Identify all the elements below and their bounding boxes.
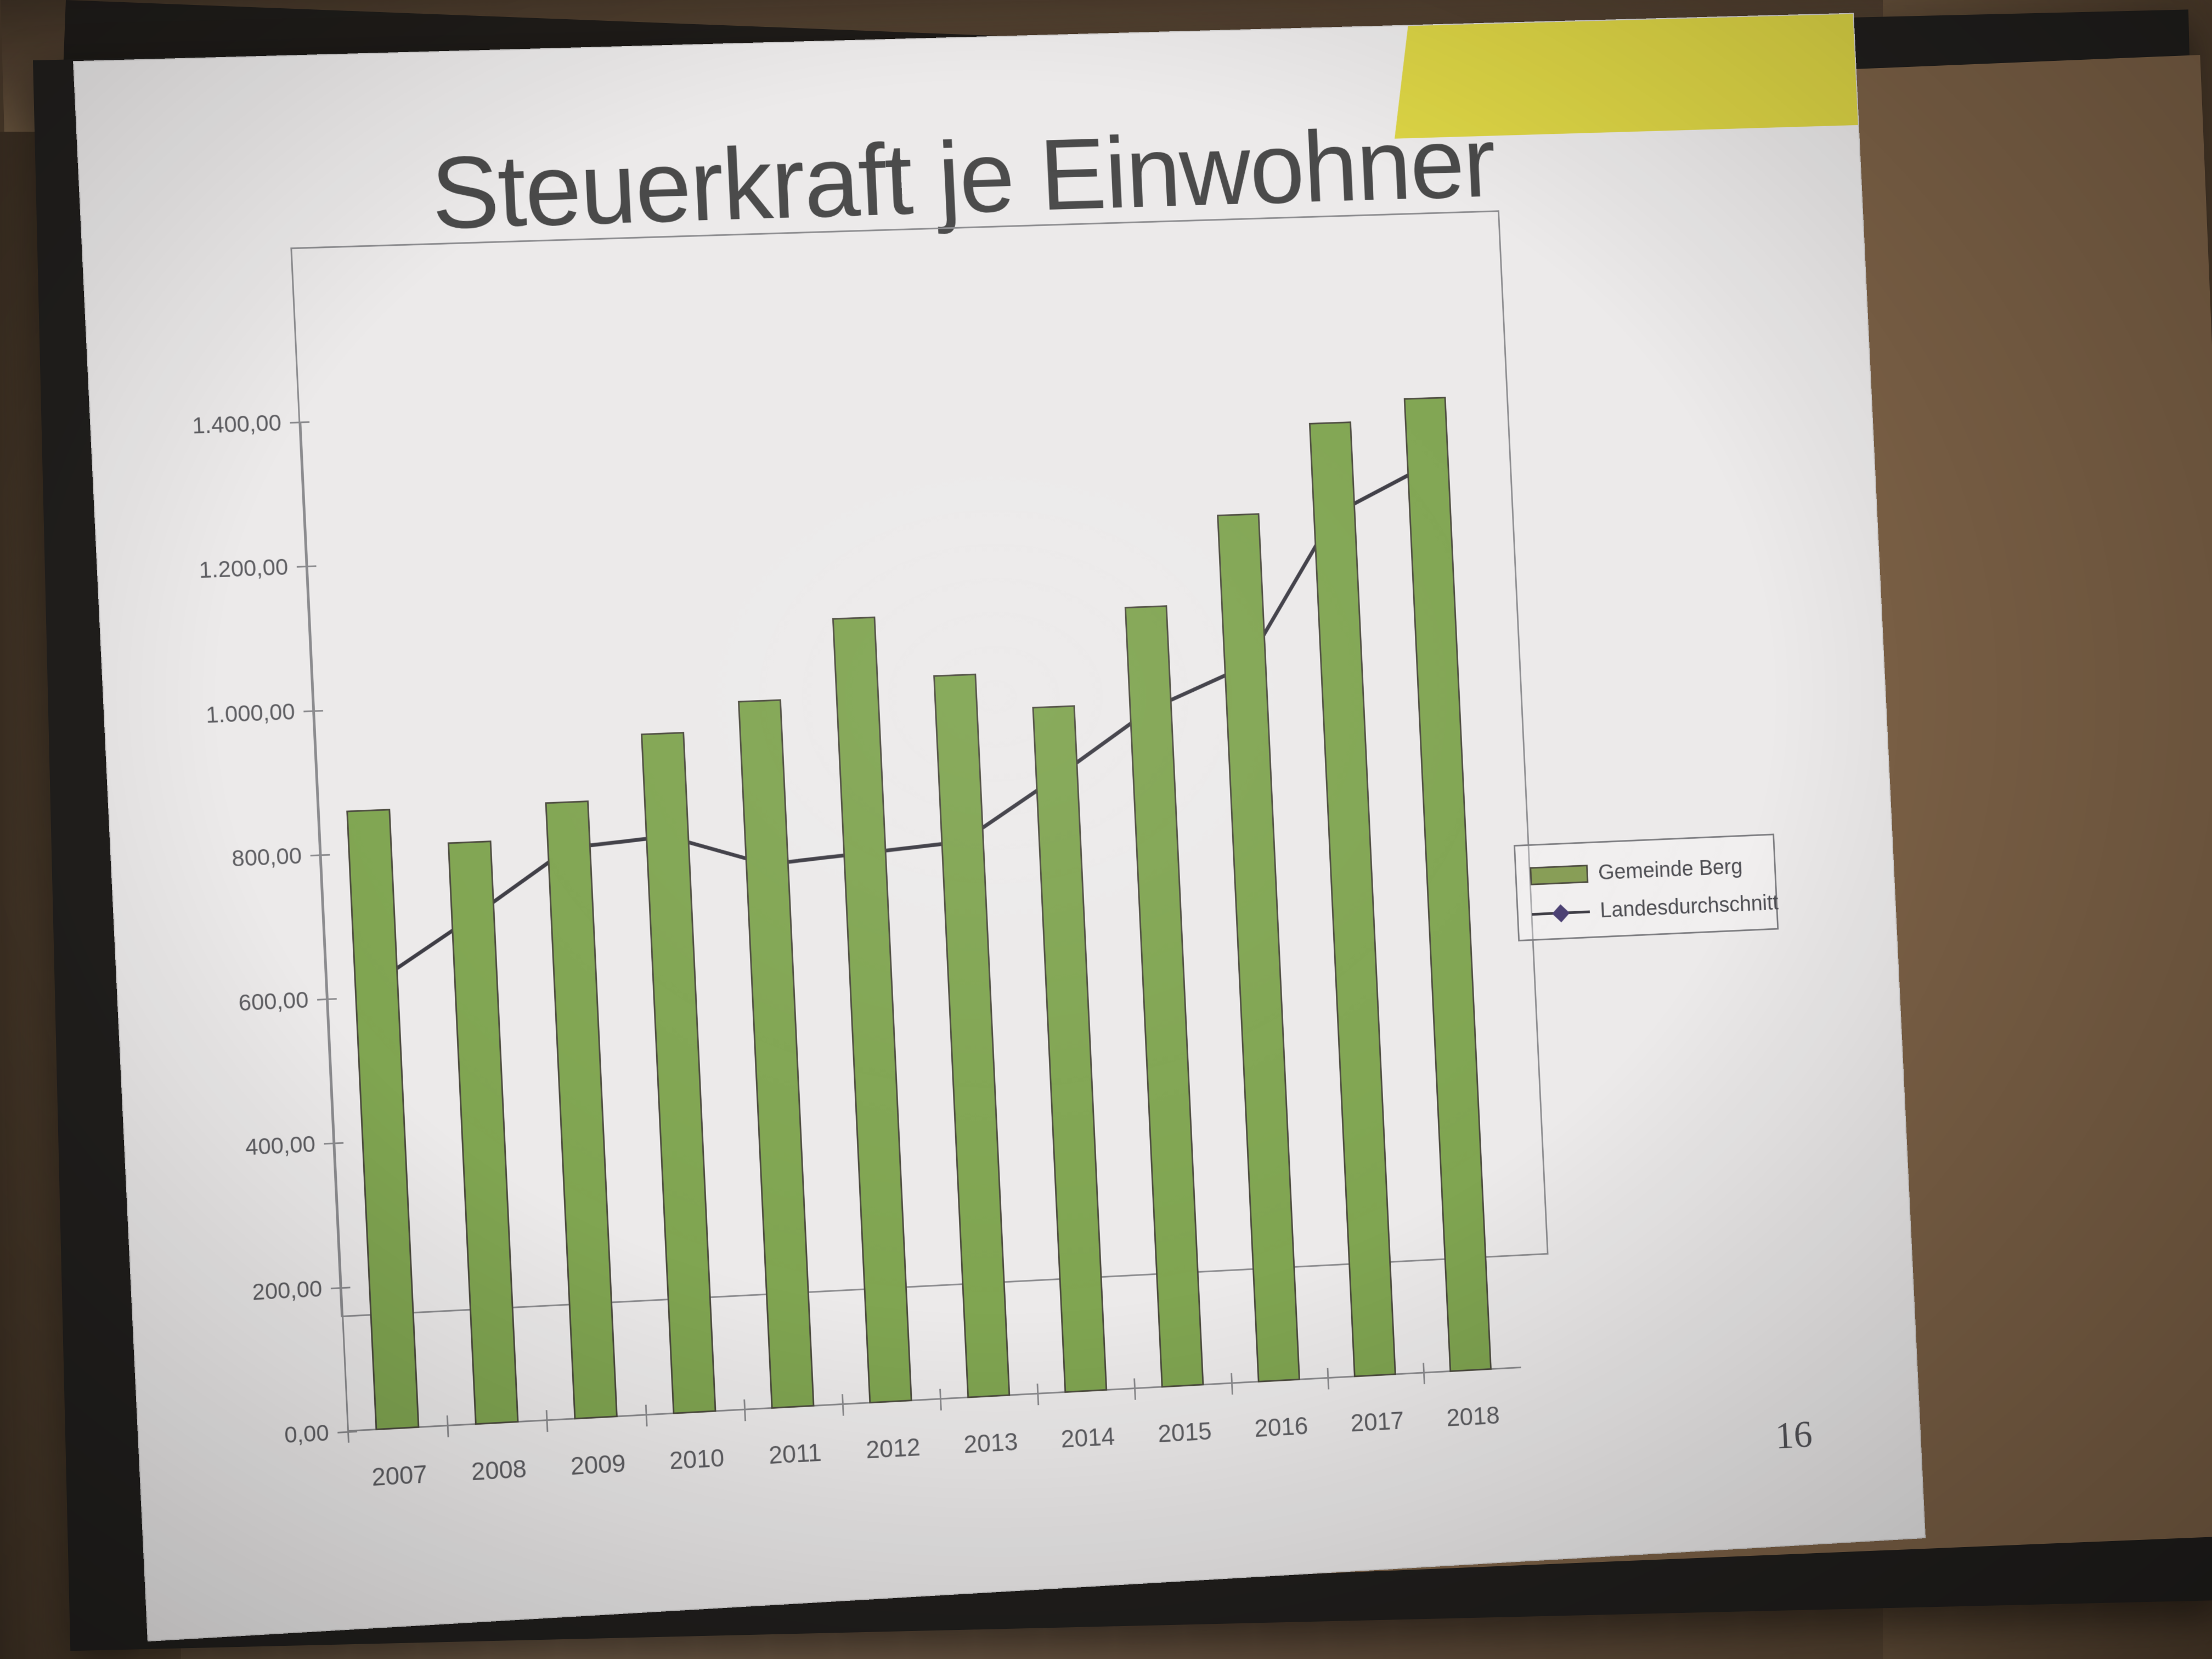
legend-bar-swatch-icon (1530, 865, 1588, 885)
y-axis-label: 400,00 (245, 1131, 316, 1161)
slide-number: 16 (1774, 1412, 1813, 1458)
chart: 1.400,001.200,001.000,00800,00600,00400,… (148, 191, 1833, 1488)
y-axis-label: 200,00 (252, 1276, 323, 1305)
x-axis-label: 2011 (768, 1437, 822, 1470)
photo-scene: Steuerkraft je Einwohner 16 1.400,001.20… (0, 0, 2212, 1659)
x-axis-label: 2014 (1060, 1421, 1116, 1453)
chart-legend: Gemeinde Berg Landesdurchschnitt (1514, 833, 1779, 941)
x-axis-label: 2015 (1157, 1416, 1212, 1448)
y-axis-label: 600,00 (238, 987, 309, 1017)
x-axis-label: 2013 (963, 1427, 1018, 1459)
x-axis-label: 2010 (669, 1443, 725, 1475)
x-axis-label: 2017 (1350, 1406, 1405, 1437)
y-axis-label: 1.200,00 (199, 554, 289, 584)
chart-plot-area: 1.400,001.200,001.000,00800,00600,00400,… (300, 382, 1519, 1432)
legend-label-landesdurchschnitt: Landesdurchschnitt (1600, 891, 1779, 923)
y-axis-label: 1.000,00 (205, 698, 295, 728)
presentation-slide: Steuerkraft je Einwohner 16 1.400,001.20… (74, 14, 1925, 1641)
y-axis-label: 1.400,00 (191, 410, 281, 439)
legend-label-gemeinde-berg: Gemeinde Berg (1598, 855, 1743, 885)
x-axis-label: 2008 (471, 1454, 527, 1486)
legend-line-swatch-icon (1532, 902, 1590, 923)
y-axis-label: 0,00 (284, 1420, 329, 1448)
slide-canvas: Steuerkraft je Einwohner 16 1.400,001.20… (74, 14, 1925, 1641)
legend-item-gemeinde-berg: Gemeinde Berg (1530, 855, 1743, 888)
projection-frame: Steuerkraft je Einwohner 16 1.400,001.20… (33, 9, 2212, 1651)
legend-item-landesdurchschnitt: Landesdurchschnitt (1531, 891, 1779, 926)
y-axis-label: 800,00 (231, 843, 302, 872)
x-axis-label: 2018 (1446, 1401, 1500, 1432)
x-axis-label: 2009 (570, 1448, 627, 1481)
x-axis-label: 2016 (1254, 1411, 1308, 1443)
x-axis-label: 2007 (371, 1459, 428, 1492)
x-axis-label: 2012 (865, 1432, 921, 1465)
